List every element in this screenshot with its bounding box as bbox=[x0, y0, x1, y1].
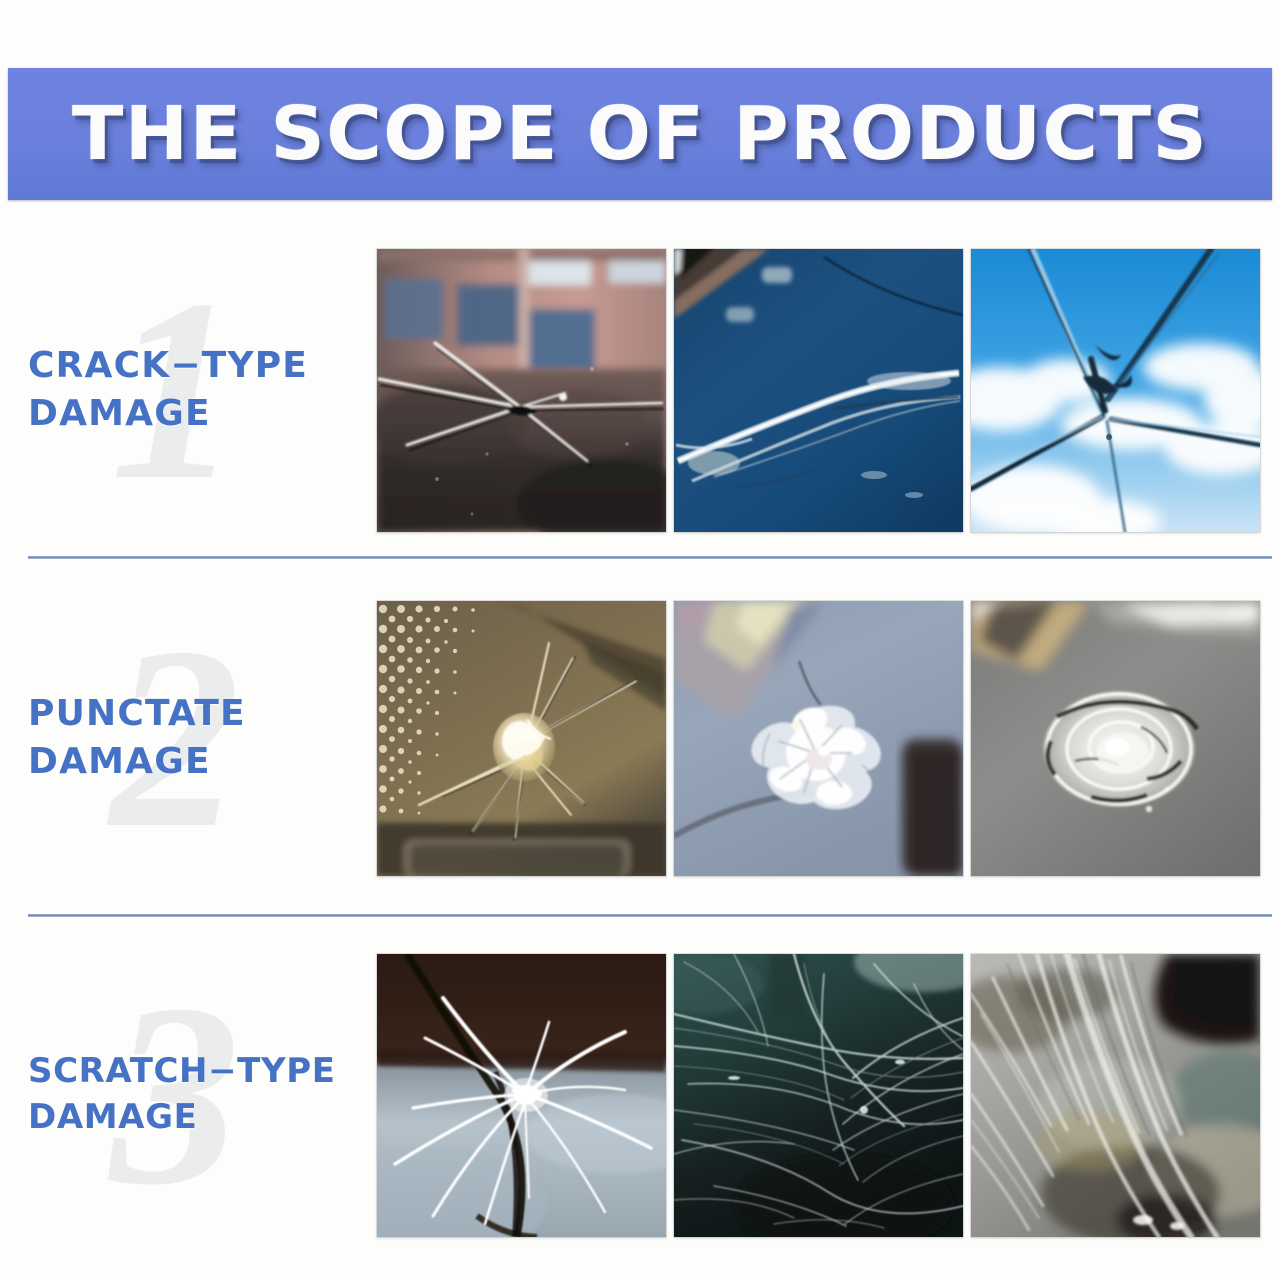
row-thumbnail-group bbox=[377, 954, 1260, 1237]
thumbnail-cracks-blue-sky-clouds[interactable] bbox=[971, 249, 1260, 532]
thumbnail-star-crack-brick-building[interactable] bbox=[377, 249, 666, 532]
thumbnail-dense-fine-scratches-teal[interactable] bbox=[674, 954, 963, 1237]
page-title: THE SCOPE OF PRODUCTS bbox=[72, 91, 1209, 177]
thumbnail-long-crack-dark-blue[interactable] bbox=[674, 249, 963, 532]
row-label-cell: 3 SCRATCH−TYPE DAMAGE bbox=[0, 945, 377, 1245]
thumbnail-diagonal-scratch-bands-grey[interactable] bbox=[971, 954, 1260, 1237]
row-label-line-1: PUNCTATE bbox=[28, 690, 377, 738]
row-thumbnail-group bbox=[377, 249, 1260, 532]
thumbnail-white-radiating-scratches[interactable] bbox=[377, 954, 666, 1237]
row-label-cell: 2 PUNCTATE DAMAGE bbox=[0, 588, 377, 888]
row-divider-1 bbox=[28, 556, 1272, 559]
damage-row-scratch-type: 3 SCRATCH−TYPE DAMAGE bbox=[0, 945, 1280, 1245]
row-label-line-2: DAMAGE bbox=[28, 1095, 377, 1141]
row-label-line-2: DAMAGE bbox=[28, 738, 377, 786]
row-label-cell: 1 CRACK−TYPE DAMAGE bbox=[0, 230, 377, 550]
row-label-line-1: CRACK−TYPE bbox=[28, 342, 377, 390]
header-banner: THE SCOPE OF PRODUCTS bbox=[8, 68, 1272, 200]
thumbnail-flower-chip-grey-blue-glass[interactable] bbox=[674, 601, 963, 876]
damage-row-punctate: 2 PUNCTATE DAMAGE bbox=[0, 588, 1280, 888]
thumbnail-bullseye-chip-olive-windshield[interactable] bbox=[377, 601, 666, 876]
row-label-line-1: SCRATCH−TYPE bbox=[28, 1049, 377, 1095]
row-thumbnail-group bbox=[377, 601, 1260, 876]
row-divider-2 bbox=[28, 914, 1272, 917]
thumbnail-circular-bullseye-grey-glass[interactable] bbox=[971, 601, 1260, 876]
row-label-line-2: DAMAGE bbox=[28, 390, 377, 438]
damage-row-crack-type: 1 CRACK−TYPE DAMAGE bbox=[0, 230, 1280, 550]
